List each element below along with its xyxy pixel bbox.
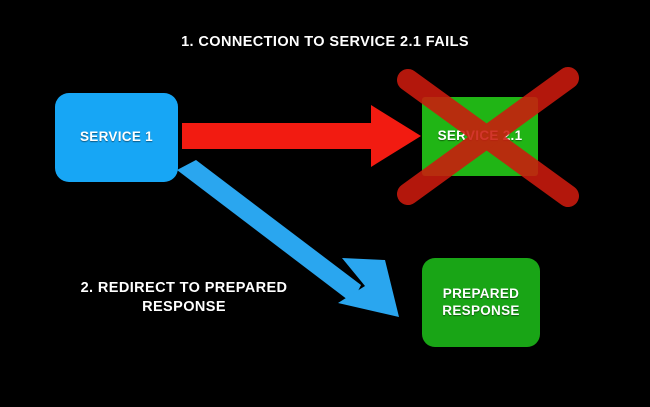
diagram-canvas: SERVICE 1 SERVICE 2.1 PREPARED RESPONSE … — [0, 0, 650, 407]
failure-x-icon — [0, 0, 650, 407]
